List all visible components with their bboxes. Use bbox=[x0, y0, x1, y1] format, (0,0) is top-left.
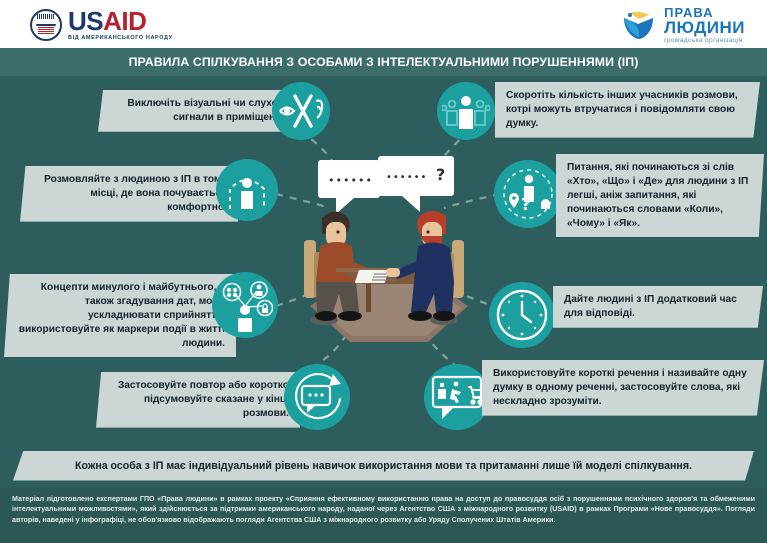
eye-ear-crossed-icon bbox=[272, 82, 330, 140]
tip-short-sentences-text: Використовуйте короткі речення і називай… bbox=[482, 360, 764, 416]
partner-line-2: ЛЮДИНИ bbox=[664, 19, 745, 36]
tip-repeat-summarize-text: Застосовуйте повтор або коротко підсумов… bbox=[96, 372, 300, 428]
partner-line-3: громадська організація bbox=[664, 38, 745, 45]
footer-disclaimer: Матеріал підготовлено експертами ГПО «Пр… bbox=[0, 488, 767, 543]
title-bar: ПРАВИЛА СПІЛКУВАННЯ З ОСОБАМИ З ІНТЕЛЕКТ… bbox=[0, 48, 767, 76]
partner-logo: ПРАВА ЛЮДИНИ громадська організація bbox=[618, 6, 745, 44]
usaid-word-us: US bbox=[68, 6, 103, 36]
svg-text:?: ? bbox=[436, 165, 445, 184]
usaid-word-aid: AID bbox=[103, 6, 146, 36]
summary-banner-inner: Кожна особа з ІП має індивідуальний ріве… bbox=[13, 451, 754, 481]
person-in-place-icon bbox=[216, 159, 278, 221]
person-question-location-icon: ? bbox=[494, 160, 562, 228]
summary-text: Кожна особа з ІП має індивідуальний ріве… bbox=[75, 460, 692, 472]
page-title: ПРАВИЛА СПІЛКУВАННЯ З ОСОБАМИ З ІНТЕЛЕКТ… bbox=[129, 55, 639, 69]
tip-question-words-text: Питання, які починаються зі слів «Хто», … bbox=[556, 154, 764, 237]
usaid-logo: USAID ВІД АМЕРИКАНСЬКОГО НАРОДУ bbox=[30, 8, 173, 42]
usaid-seal-icon bbox=[30, 9, 62, 41]
footer-text: Матеріал підготовлено експертами ГПО «Пр… bbox=[12, 494, 755, 525]
usaid-tagline: ВІД АМЕРИКАНСЬКОГО НАРОДУ bbox=[68, 36, 173, 42]
tip-extra-time-text: Дайте людині з ІП додатковий час для від… bbox=[553, 286, 763, 328]
speech-repeat-icon bbox=[284, 364, 350, 430]
svg-text:••••••: •••••• bbox=[386, 172, 427, 183]
infographic-canvas: •••••• •••••• ? bbox=[0, 76, 767, 443]
usaid-wordmark: USAID ВІД АМЕРИКАНСЬКОГО НАРОДУ bbox=[68, 8, 173, 42]
tip-comfortable-place-text: Розмовляйте з людиною з ІП в тому місці,… bbox=[20, 166, 238, 222]
svg-text:••••••: •••••• bbox=[328, 174, 373, 187]
svg-text:?: ? bbox=[521, 195, 531, 215]
pictogram-speech-icon bbox=[424, 364, 490, 430]
partner-line-1: ПРАВА bbox=[664, 6, 745, 19]
infographic-page: USAID ВІД АМЕРИКАНСЬКОГО НАРОДУ ПРАВА ЛЮ… bbox=[0, 0, 767, 543]
partner-wordmark: ПРАВА ЛЮДИНИ громадська організація bbox=[664, 6, 745, 44]
person-network-icon bbox=[212, 272, 278, 338]
tip-past-future-concepts-text: Концепти минулого і майбутнього, а також… bbox=[4, 274, 236, 357]
seal-stars bbox=[37, 14, 55, 19]
header-band: USAID ВІД АМЕРИКАНСЬКОГО НАРОДУ ПРАВА ЛЮ… bbox=[0, 0, 767, 48]
dove-icon bbox=[618, 8, 658, 42]
group-of-people-icon bbox=[437, 82, 495, 140]
summary-banner: Кожна особа з ІП має індивідуальний ріве… bbox=[0, 443, 767, 488]
clock-icon bbox=[489, 282, 555, 348]
tip-disable-signals-text: Виключіть візуальні чи слухові сигнали в… bbox=[98, 90, 298, 132]
tip-reduce-participants-text: Скоротіть кількість інших учасників розм… bbox=[495, 82, 760, 138]
central-illustration: •••••• •••••• ? bbox=[270, 156, 500, 366]
